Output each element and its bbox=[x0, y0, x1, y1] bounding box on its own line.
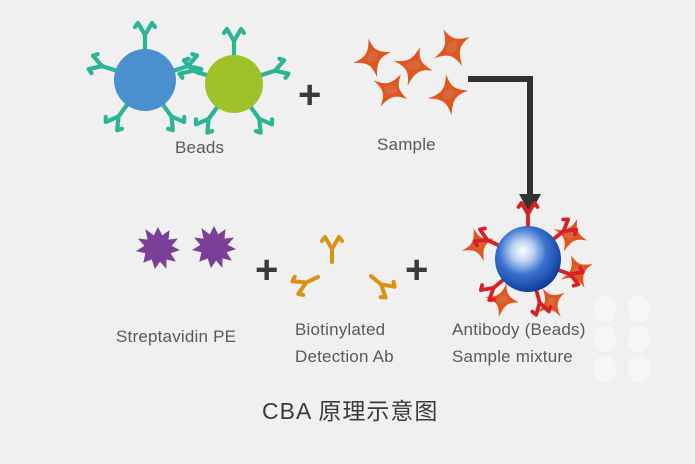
label-detection-line2: Detection Ab bbox=[295, 344, 394, 369]
detection-antibody-group bbox=[291, 237, 396, 300]
green-bead-group bbox=[179, 29, 290, 134]
plus-bottom-left: + bbox=[255, 250, 278, 290]
streptavidin-group bbox=[136, 226, 236, 269]
blue-bead-group bbox=[88, 23, 203, 132]
detection-antibody bbox=[322, 237, 342, 262]
blue-bead bbox=[114, 49, 176, 111]
streptavidin-burst bbox=[192, 226, 236, 268]
process-arrow bbox=[468, 79, 541, 214]
sample-star bbox=[349, 35, 395, 81]
sample-star bbox=[426, 73, 471, 118]
detection-antibody bbox=[365, 268, 397, 299]
streptavidin-burst bbox=[136, 227, 180, 269]
label-sample: Sample bbox=[377, 135, 436, 155]
figure-title: CBA 原理示意图 bbox=[262, 392, 438, 426]
cba-diagram: + + + Beads Sample Streptavidin PE Bioti… bbox=[0, 0, 695, 464]
label-streptavidin-pe: Streptavidin PE bbox=[116, 327, 236, 347]
complex-bead bbox=[495, 226, 561, 292]
green-bead bbox=[205, 55, 263, 113]
label-beads: Beads bbox=[175, 138, 224, 158]
plus-top: + bbox=[298, 75, 321, 115]
sample-stars-group bbox=[349, 21, 479, 118]
complex-group bbox=[457, 203, 600, 326]
label-detection-line1: Biotinylated bbox=[295, 317, 385, 342]
label-mixture-line2: Sample mixture bbox=[452, 344, 573, 369]
sample-star bbox=[425, 21, 480, 76]
label-mixture-line1: Antibody (Beads) bbox=[452, 317, 586, 342]
plus-bottom-right: + bbox=[405, 250, 428, 290]
detection-antibody bbox=[291, 268, 322, 297]
